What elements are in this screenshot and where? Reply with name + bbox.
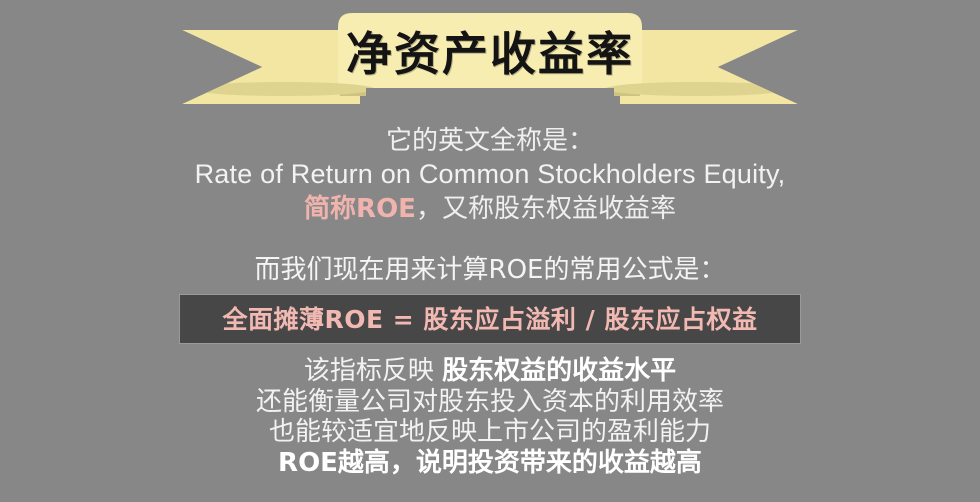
- definition-alias-rest: ，又称股东权益收益率: [416, 194, 676, 224]
- formula-box-wrapper: 全面摊薄ROE = 股东应占溢利 / 股东应占权益: [0, 294, 980, 344]
- formula-box: 全面摊薄ROE = 股东应占溢利 / 股东应占权益: [179, 294, 801, 344]
- formula-expression: 全面摊薄ROE = 股东应占溢利 / 股东应占权益: [193, 300, 787, 336]
- description-block: 该指标反映 股东权益的收益水平 还能衡量公司对股东投入资本的利用效率 也能较适宜…: [0, 356, 980, 479]
- formula-intro-line: 而我们现在用来计算ROE的常用公式是：: [0, 255, 980, 294]
- formula-block: 而我们现在用来计算ROE的常用公式是： 全面摊薄ROE = 股东应占溢利 / 股…: [0, 255, 980, 344]
- definition-abbr-roe: 简称ROE: [304, 194, 416, 224]
- poster-canvas: 净资产收益率 它的英文全称是： Rate of Return on Common…: [0, 0, 980, 502]
- description-line-2: 还能衡量公司对股东投入资本的利用效率: [0, 387, 980, 418]
- description-line-1-emphasis: 股东权益的收益水平: [442, 356, 676, 386]
- ribbon-bottom-outside: [182, 104, 798, 120]
- description-line-3: 也能较适宜地反映上市公司的盈利能力: [0, 417, 980, 448]
- definition-block: 它的英文全称是： Rate of Return on Common Stockh…: [0, 126, 980, 224]
- banner-title: 净资产收益率: [0, 12, 980, 90]
- description-line-1: 该指标反映 股东权益的收益水平: [0, 356, 980, 387]
- definition-english-name: Rate of Return on Common Stockholders Eq…: [0, 159, 980, 194]
- definition-alias-line: 简称ROE，又称股东权益收益率: [0, 194, 980, 225]
- ribbon-banner: 净资产收益率: [0, 0, 980, 120]
- description-line-4: ROE越高，说明投资带来的收益越高: [0, 448, 980, 479]
- description-line-1-plain: 该指标反映: [304, 356, 442, 386]
- definition-intro-line: 它的英文全称是：: [0, 126, 980, 159]
